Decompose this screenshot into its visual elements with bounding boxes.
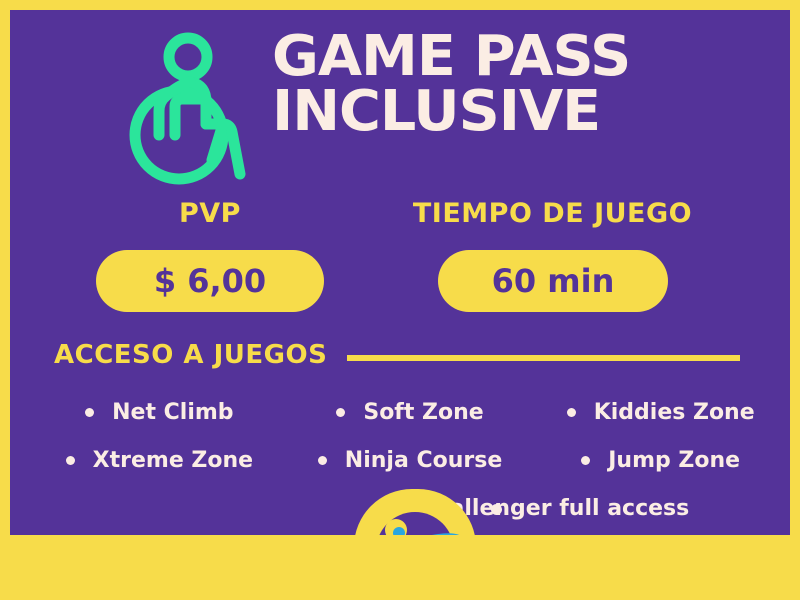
list-item: Soft Zone: [285, 400, 536, 425]
bullet-icon: [66, 456, 75, 465]
bullet-icon: [318, 456, 327, 465]
playtime-value-pill: 60 min: [438, 250, 668, 312]
list-item: Jump Zone: [535, 448, 786, 473]
bullet-icon: [85, 408, 94, 417]
bullet-icon: [336, 408, 345, 417]
list-item-label: Kiddies Zone: [594, 400, 755, 425]
bullet-icon: [581, 456, 590, 465]
list-item-label: Ninja Course: [345, 448, 502, 473]
title-line-2: INCLUSIVE: [272, 85, 782, 140]
games-section-heading: ACCESO A JUEGOS: [54, 340, 327, 370]
game-pass-promo-card: GAME PASS INCLUSIVE PVP $ 6,00 TIEMPO DE…: [0, 0, 800, 600]
list-item-label: Net Climb: [112, 400, 233, 425]
list-item: Xtreme Zone: [34, 448, 285, 473]
playtime-label: TIEMPO DE JUEGO: [370, 198, 735, 229]
decorative-dot: [491, 504, 502, 515]
list-item-label: Jump Zone: [608, 448, 740, 473]
price-label: PVP: [95, 198, 325, 229]
list-item: Kiddies Zone: [535, 400, 786, 425]
wheelchair-accessible-icon: [128, 32, 254, 187]
list-item: Net Climb: [34, 400, 285, 425]
games-row: Net Climb Soft Zone Kiddies Zone: [34, 388, 786, 436]
game-town-logo: GAME TOWN: [366, 502, 464, 535]
list-item: Ninja Course: [285, 448, 536, 473]
list-item-label: Xtreme Zone: [93, 448, 253, 473]
title-line-1: GAME PASS: [272, 30, 782, 85]
page-title: GAME PASS INCLUSIVE: [272, 30, 772, 140]
price-value-pill: $ 6,00: [96, 250, 324, 312]
list-item-label: Soft Zone: [363, 400, 483, 425]
bullet-icon: [567, 408, 576, 417]
section-divider-rule: [347, 355, 740, 361]
purple-panel: GAME PASS INCLUSIVE PVP $ 6,00 TIEMPO DE…: [10, 10, 790, 535]
games-row: Xtreme Zone Ninja Course Jump Zone: [34, 436, 786, 484]
